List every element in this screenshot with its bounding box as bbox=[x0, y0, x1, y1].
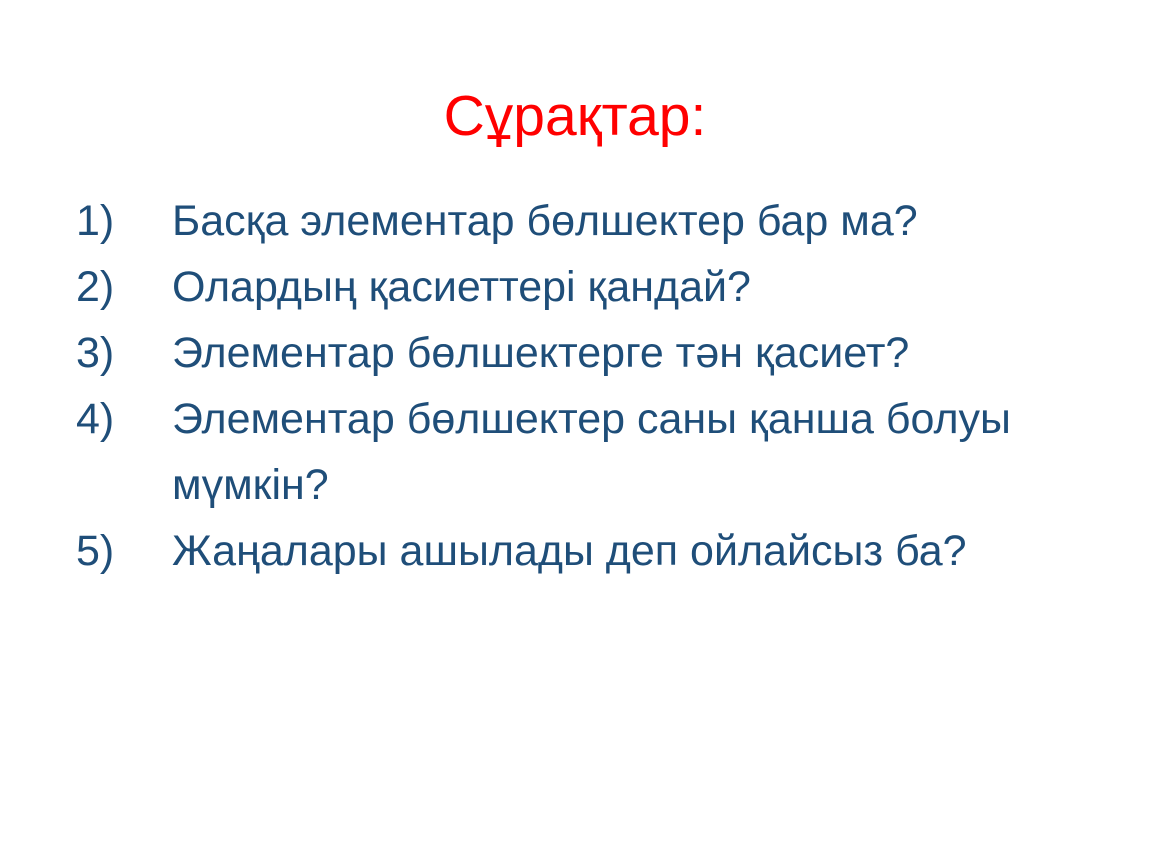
list-item-label: Олардың қасиеттері қандай? bbox=[172, 254, 1096, 320]
list-item-label: Жаңалары ашылады деп ойлайсыз ба? bbox=[172, 518, 1096, 584]
list-item: 5) Жаңалары ашылады деп ойлайсыз ба? bbox=[76, 518, 1096, 584]
list-item-label: Басқа элементар бөлшектер бар ма? bbox=[172, 188, 1096, 254]
list-item: 4) Элементар бөлшектер саны қанша болуы … bbox=[76, 386, 1096, 518]
list-item: 3) Элементар бөлшектерге тән қасиет? bbox=[76, 320, 1096, 386]
list-item: 1) Басқа элементар бөлшектер бар ма? bbox=[76, 188, 1096, 254]
list-item-marker: 2) bbox=[76, 254, 172, 320]
list-item-marker: 1) bbox=[76, 188, 172, 254]
list-item: 2) Олардың қасиеттері қандай? bbox=[76, 254, 1096, 320]
list-item-label: Элементар бөлшектерге тән қасиет? bbox=[172, 320, 1096, 386]
page-title: Сұрақтар: bbox=[0, 86, 1150, 148]
list-item-marker: 3) bbox=[76, 320, 172, 386]
list-item-marker: 5) bbox=[76, 518, 172, 584]
list-item-marker: 4) bbox=[76, 386, 172, 452]
question-list: 1) Басқа элементар бөлшектер бар ма? 2) … bbox=[76, 188, 1096, 584]
list-item-label: Элементар бөлшектер саны қанша болуы мүм… bbox=[172, 386, 1096, 518]
presentation-slide: Сұрақтар: 1) Басқа элементар бөлшектер б… bbox=[0, 0, 1150, 864]
